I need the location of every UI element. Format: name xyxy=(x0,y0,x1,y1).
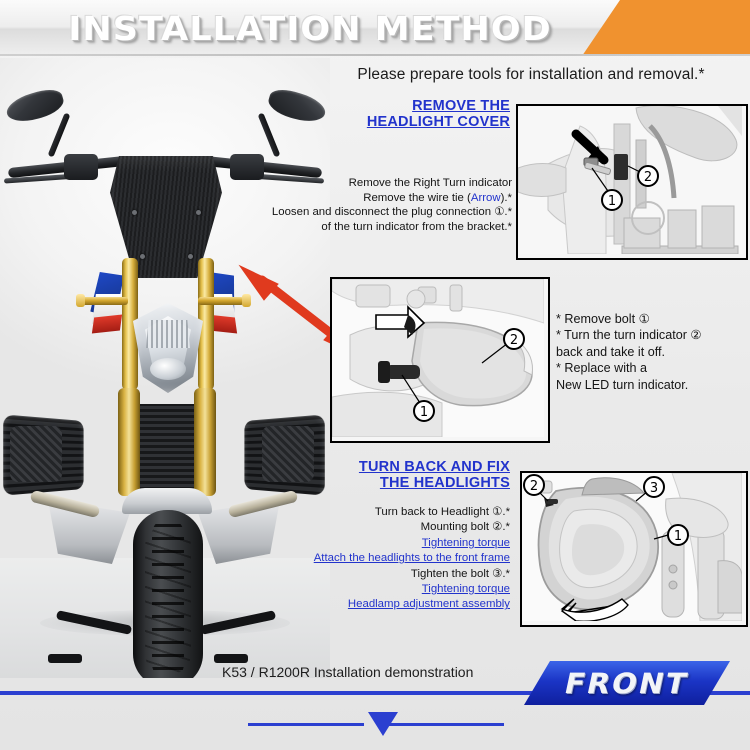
arrow-keyword: Arrow xyxy=(471,192,501,204)
fork-slider-right xyxy=(194,388,216,496)
step-line: Tighten the bolt ③.* xyxy=(242,567,510,582)
turn-indicator-lens-right xyxy=(242,294,251,307)
svg-text:3: 3 xyxy=(650,481,658,496)
switchgear-left xyxy=(64,154,98,180)
intro-text: Please prepare tools for installation an… xyxy=(316,66,746,84)
fairing-bolt xyxy=(132,210,137,215)
link-attach-headlights[interactable]: Attach the headlights to the front frame xyxy=(242,551,510,566)
header-divider xyxy=(0,54,750,56)
front-badge-label: FRONT xyxy=(562,667,692,700)
headlight-mount-figure: 2 3 1 xyxy=(520,471,748,627)
headlight-reflector xyxy=(146,320,190,348)
page-title: INSTALLATION METHOD xyxy=(0,0,620,56)
valve-cover-left xyxy=(10,426,62,482)
note-line: New LED turn indicator. xyxy=(556,377,746,393)
footer-accent-line-left xyxy=(248,723,364,726)
svg-text:2: 2 xyxy=(644,170,652,185)
center-stand-foot-right xyxy=(214,654,248,663)
fork-slider-left xyxy=(118,388,140,496)
section-1-steps: Remove the Right Turn indicator Remove t… xyxy=(246,176,512,234)
step-line: Turn back to Headlight ①.* xyxy=(242,505,510,520)
headlight-cover-figure: 1 2 xyxy=(516,104,748,260)
link-headlamp-adjustment[interactable]: Headlamp adjustment assembly xyxy=(242,597,510,612)
front-badge: FRONT xyxy=(524,661,730,705)
step-line: Remove the Right Turn indicator xyxy=(246,176,512,191)
step-text-after: ).* xyxy=(501,192,512,204)
section-heading-line1: TURN BACK AND FIX xyxy=(348,459,510,475)
center-stand-foot-left xyxy=(48,654,82,663)
section-heading-line2: THE HEADLIGHTS xyxy=(348,475,510,491)
valve-cover-right xyxy=(262,426,314,482)
section-3-steps: Turn back to Headlight ①.* Mounting bolt… xyxy=(242,505,510,613)
livery-red-left xyxy=(92,315,122,334)
note-line: * Remove bolt ① xyxy=(556,311,746,327)
footer-accent-line-right xyxy=(388,723,504,726)
tire-tread xyxy=(152,518,184,678)
step-text-before: Remove the wire tie ( xyxy=(363,192,471,204)
step-line: of the turn indicator from the bracket.* xyxy=(246,220,512,235)
section-2-notes: * Remove bolt ① * Turn the turn indicato… xyxy=(556,311,746,393)
svg-text:2: 2 xyxy=(530,479,538,494)
fairing-bolt xyxy=(188,254,193,259)
note-line: * Turn the turn indicator ② xyxy=(556,327,746,343)
step-line: Loosen and disconnect the plug connectio… xyxy=(246,205,512,220)
figure-3-drawing: 2 3 1 xyxy=(522,473,742,621)
turn-indicator-right xyxy=(198,297,244,305)
turn-indicator-left xyxy=(82,297,128,305)
turn-indicator-figure: 1 2 xyxy=(330,277,550,443)
svg-text:1: 1 xyxy=(674,529,682,544)
figure-2-drawing: 1 2 xyxy=(332,279,544,437)
step-line: Mounting bolt ②.* xyxy=(242,520,510,535)
turn-indicator-lens-left xyxy=(76,294,85,307)
page-header: INSTALLATION METHOD xyxy=(0,0,750,56)
fairing-bolt xyxy=(140,254,145,259)
note-line: * Replace with a xyxy=(556,360,746,376)
step-line: Remove the wire tie (Arrow).* xyxy=(246,191,512,206)
page-title-text: INSTALLATION METHOD xyxy=(68,9,551,48)
svg-text:1: 1 xyxy=(608,194,616,209)
footer-caption: K53 / R1200R Installation demonstration xyxy=(222,664,473,680)
section-heading-line1: REMOVE THE xyxy=(352,98,510,114)
link-tightening-torque-2[interactable]: Tightening torque xyxy=(242,582,510,597)
headlight-low-beam xyxy=(150,358,186,380)
section-heading-line2: HEADLIGHT COVER xyxy=(352,114,510,130)
note-line: back and take it off. xyxy=(556,344,746,360)
page-root: INSTALLATION METHOD xyxy=(0,0,750,750)
figure-1-drawing: 1 2 xyxy=(518,106,742,254)
link-tightening-torque-1[interactable]: Tightening torque xyxy=(242,536,510,551)
svg-text:1: 1 xyxy=(420,405,428,420)
section-heading-turn-back: TURN BACK AND FIX THE HEADLIGHTS xyxy=(348,459,510,491)
section-heading-remove-cover: REMOVE THE HEADLIGHT COVER xyxy=(352,98,510,130)
svg-text:2: 2 xyxy=(510,333,518,348)
fairing-bolt xyxy=(196,210,201,215)
